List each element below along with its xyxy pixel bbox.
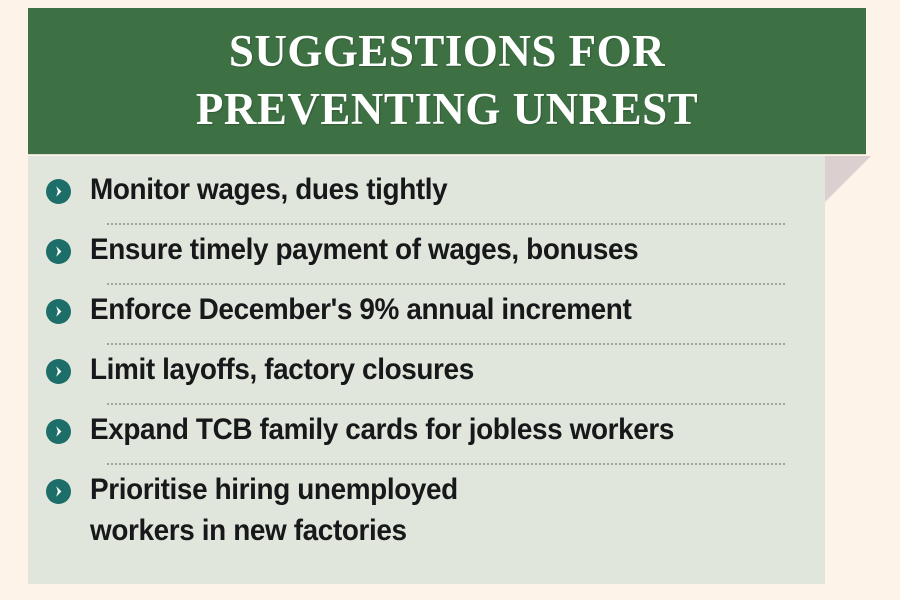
header-banner: SUGGESTIONS FOR PREVENTING UNREST bbox=[28, 8, 866, 154]
row-divider bbox=[107, 283, 785, 285]
chevron-right-bullet-icon bbox=[46, 239, 71, 264]
row-divider bbox=[107, 223, 785, 225]
suggestion-list: Monitor wages, dues tightly Ensure timel… bbox=[28, 156, 825, 552]
chevron-right-bullet-icon bbox=[46, 479, 71, 504]
row-divider bbox=[107, 403, 785, 405]
list-item: Enforce December's 9% annual increment bbox=[28, 290, 825, 338]
suggestions-panel: Monitor wages, dues tightly Ensure timel… bbox=[28, 156, 825, 584]
page-title-line-2: PREVENTING UNREST bbox=[196, 81, 698, 139]
page-title-line-1: SUGGESTIONS FOR bbox=[229, 23, 665, 81]
suggestion-text: Expand TCB family cards for jobless work… bbox=[90, 410, 762, 451]
suggestion-text: Prioritise hiring unemployed workers in … bbox=[90, 470, 762, 552]
chevron-right-bullet-icon bbox=[46, 179, 71, 204]
chevron-right-bullet-icon bbox=[46, 299, 71, 324]
list-item: Prioritise hiring unemployed workers in … bbox=[28, 470, 825, 552]
suggestion-text: Limit layoffs, factory closures bbox=[90, 350, 762, 391]
chevron-right-bullet-icon bbox=[46, 419, 71, 444]
corner-fold-decoration bbox=[825, 156, 871, 202]
suggestion-text: Enforce December's 9% annual increment bbox=[90, 290, 762, 331]
infographic-card: SUGGESTIONS FOR PREVENTING UNREST Monito… bbox=[0, 0, 900, 600]
list-item: Expand TCB family cards for jobless work… bbox=[28, 410, 825, 458]
row-divider bbox=[107, 343, 785, 345]
list-item: Monitor wages, dues tightly bbox=[28, 170, 825, 218]
list-item: Ensure timely payment of wages, bonuses bbox=[28, 230, 825, 278]
list-item: Limit layoffs, factory closures bbox=[28, 350, 825, 398]
suggestion-text: Monitor wages, dues tightly bbox=[90, 170, 762, 211]
row-divider bbox=[107, 463, 785, 465]
suggestion-text: Ensure timely payment of wages, bonuses bbox=[90, 230, 762, 271]
chevron-right-bullet-icon bbox=[46, 359, 71, 384]
